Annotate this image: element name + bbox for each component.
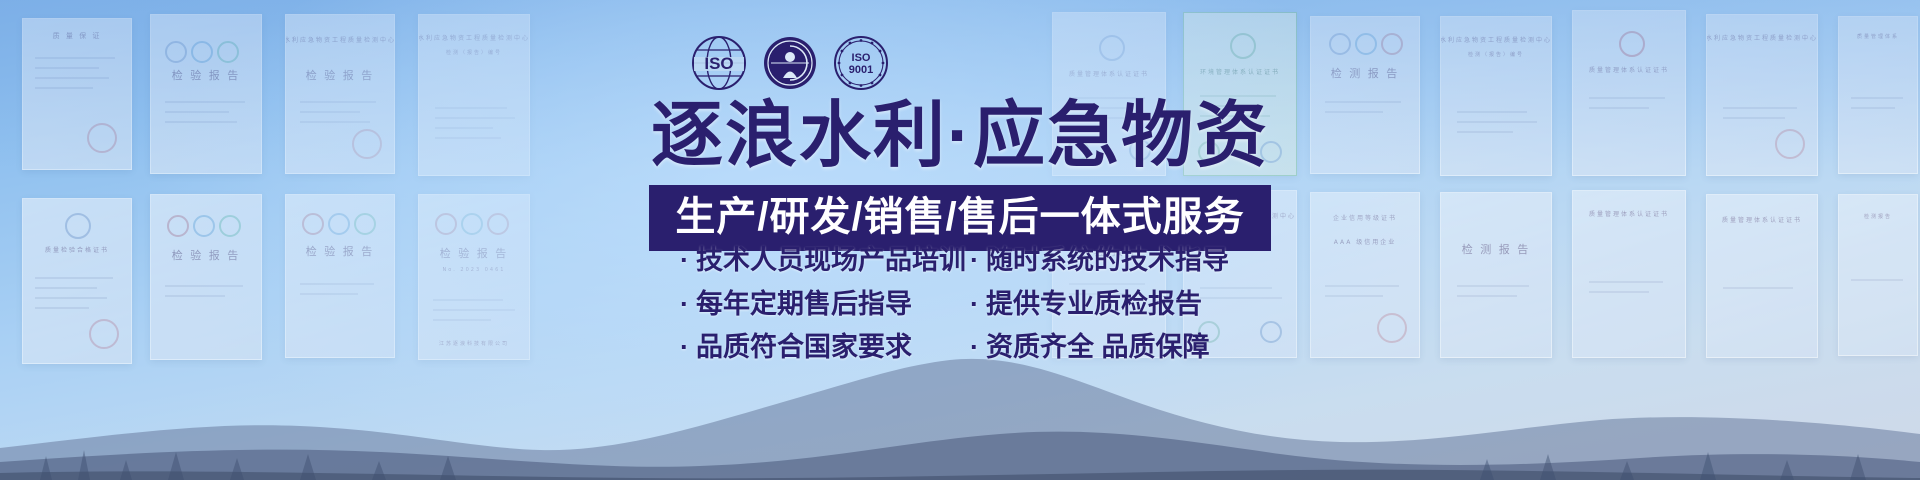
bullet-dot: ·	[970, 246, 979, 276]
subtitle-bar-wrap: 生产/研发/销售/售后一体式服务	[0, 185, 1920, 251]
feature-list: · 技术人员现场产品培训 · 随时系统的技术指导 · 每年定期售后指导 · 提供…	[0, 246, 1920, 363]
bullet-dot: ·	[680, 246, 689, 276]
feature-row: · 每年定期售后指导 · 提供专业质检报告	[680, 290, 1240, 320]
page-title: 逐浪水利·应急物资	[0, 100, 1920, 172]
feature-label: 技术人员现场产品培训	[696, 246, 966, 276]
feature-row: · 技术人员现场产品培训 · 随时系统的技术指导	[680, 246, 1240, 276]
bullet-dot: ·	[680, 290, 689, 320]
feature-label: 提供专业质检报告	[986, 290, 1202, 320]
bullet-dot: ·	[680, 333, 689, 363]
ccc-badge-icon	[761, 34, 819, 92]
svg-text:ISO: ISO	[704, 54, 733, 73]
feature-item: · 资质齐全 品质保障	[970, 333, 1240, 363]
feature-item: · 提供专业质检报告	[970, 290, 1240, 320]
certification-badges: ISO	[690, 32, 890, 94]
feature-label: 品质符合国家要求	[696, 333, 912, 363]
iso9001-badge-icon: ISO 9001	[832, 34, 890, 92]
feature-item: · 技术人员现场产品培训	[680, 246, 970, 276]
feature-item: · 随时系统的技术指导	[970, 246, 1240, 276]
feature-item: · 品质符合国家要求	[680, 333, 970, 363]
feature-item: · 每年定期售后指导	[680, 290, 970, 320]
promo-banner: 质 量 保 证 检 验 报 告 水利应急物资工程质量检测中心 检 验 报 告	[0, 0, 1920, 480]
feature-label: 资质齐全 品质保障	[986, 333, 1210, 363]
svg-text:9001: 9001	[849, 64, 873, 76]
feature-label: 每年定期售后指导	[696, 290, 912, 320]
feature-row: · 品质符合国家要求 · 资质齐全 品质保障	[680, 333, 1240, 363]
iso-badge-icon: ISO	[690, 34, 748, 92]
bullet-dot: ·	[970, 290, 979, 320]
subtitle-bar: 生产/研发/销售/售后一体式服务	[649, 185, 1270, 251]
svg-text:ISO: ISO	[852, 52, 871, 64]
bullet-dot: ·	[970, 333, 979, 363]
feature-label: 随时系统的技术指导	[986, 246, 1229, 276]
